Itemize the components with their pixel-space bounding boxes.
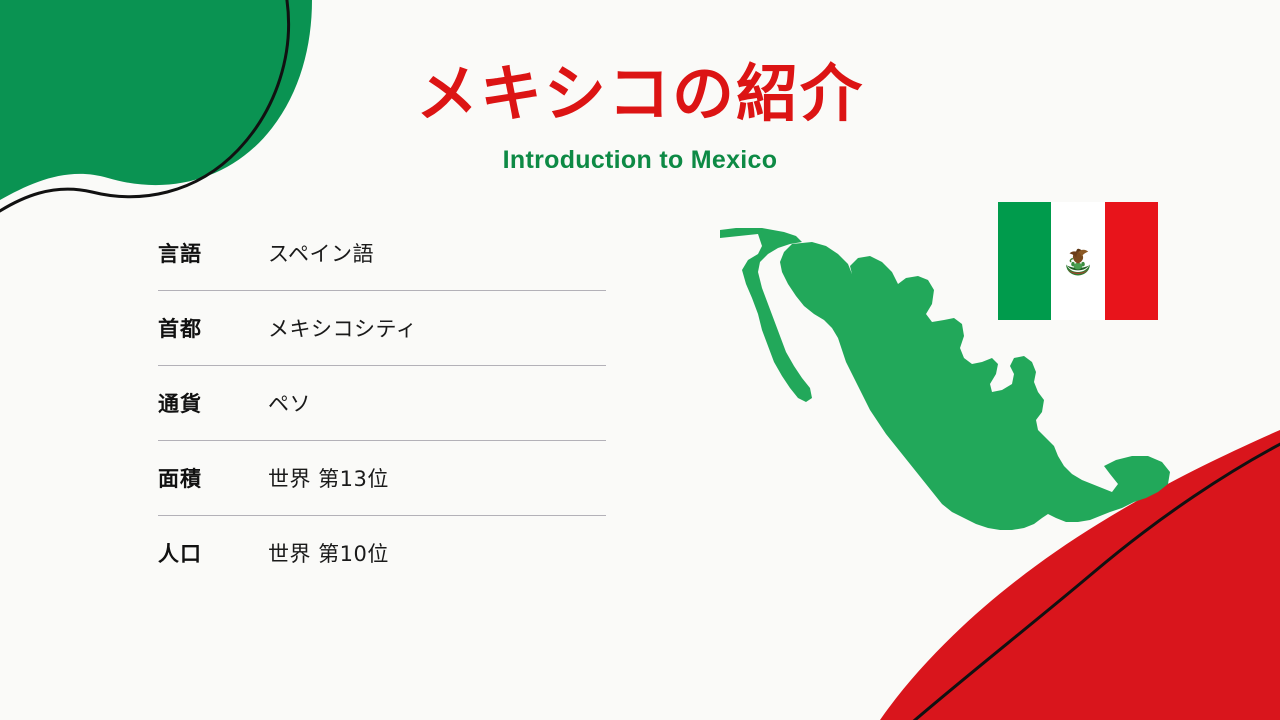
title-block: メキシコの紹介 Introduction to Mexico: [0, 58, 1280, 174]
mexico-flag: [998, 202, 1158, 320]
fact-label: 人口: [158, 538, 268, 568]
fact-value: メキシコシティ: [268, 313, 606, 343]
fact-table: 言語 スペイン語 首都 メキシコシティ 通貨 ペソ 面積 世界 第13位 人口 …: [158, 216, 606, 590]
page-title: メキシコの紹介: [0, 58, 1280, 130]
fact-value: 世界 第13位: [268, 463, 606, 493]
table-row: 首都 メキシコシティ: [158, 291, 606, 366]
fact-label: 通貨: [158, 388, 268, 418]
table-row: 言語 スペイン語: [158, 216, 606, 291]
fact-value: 世界 第10位: [268, 538, 606, 568]
flag-band-white: [1051, 202, 1104, 320]
slide-canvas: メキシコの紹介 Introduction to Mexico 言語 スペイン語 …: [0, 0, 1280, 720]
fact-value: スペイン語: [268, 238, 606, 268]
flag-band-green: [998, 202, 1051, 320]
table-row: 通貨 ペソ: [158, 366, 606, 441]
flag-band-red: [1105, 202, 1158, 320]
fact-label: 首都: [158, 313, 268, 343]
fact-value: ペソ: [268, 388, 606, 418]
mexican-coat-of-arms-icon: [1061, 244, 1095, 278]
fact-label: 面積: [158, 463, 268, 493]
page-subtitle: Introduction to Mexico: [0, 146, 1280, 174]
table-row: 人口 世界 第10位: [158, 516, 606, 590]
table-row: 面積 世界 第13位: [158, 441, 606, 516]
fact-label: 言語: [158, 238, 268, 268]
